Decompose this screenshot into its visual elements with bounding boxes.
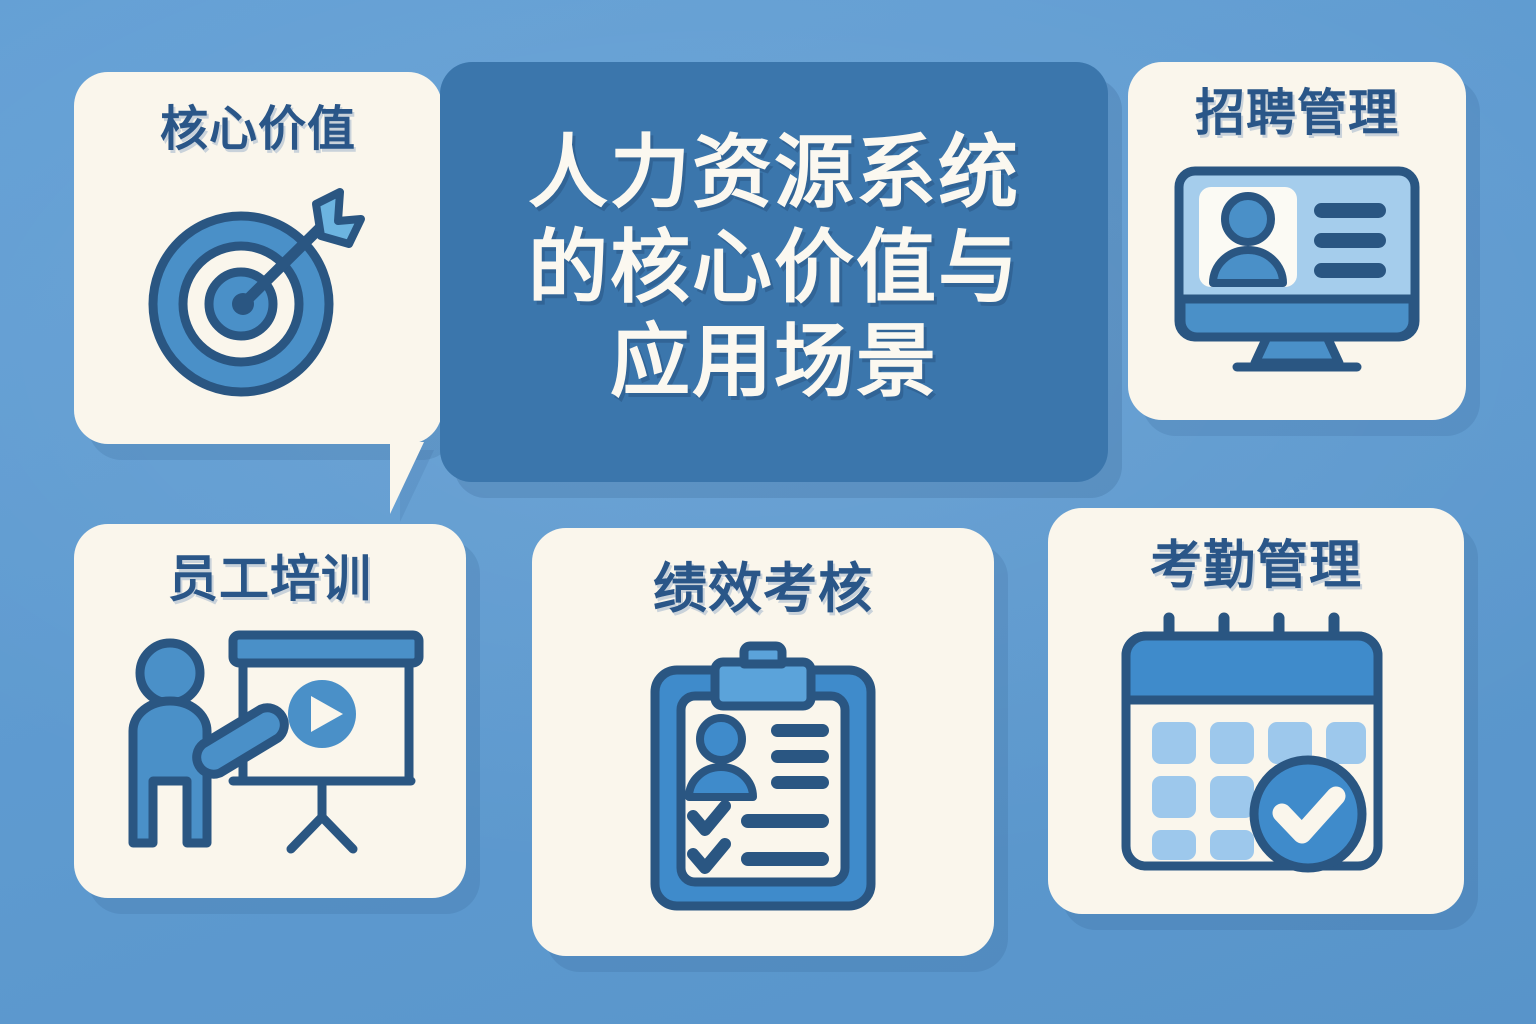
presenter-projector-screen-icon	[115, 621, 425, 863]
icon-wrap-recruitment	[1128, 142, 1466, 400]
card-title-attendance: 考勤管理	[1150, 540, 1362, 592]
icon-wrap-performance	[532, 624, 994, 930]
main-title-line-2: 的核心价值与	[528, 221, 1020, 315]
card-title-core-value: 核心价值	[160, 106, 356, 154]
card-title-recruitment: 招聘管理	[1195, 88, 1399, 138]
main-title-line-1: 人力资源系统	[528, 126, 1020, 220]
infographic-poster: 核心价值 人力资源系统 的核心价值与 应用场景	[0, 0, 1536, 1024]
card-recruitment[interactable]: 招聘管理	[1128, 62, 1466, 420]
card-core-value[interactable]: 核心价值	[74, 72, 442, 444]
icon-wrap-attendance	[1048, 598, 1464, 890]
target-dartboard-icon	[133, 174, 383, 404]
main-title-text: 人力资源系统 的核心价值与 应用场景	[528, 126, 1020, 409]
main-title-banner: 人力资源系统 的核心价值与 应用场景	[440, 62, 1108, 482]
clipboard-checklist-icon	[647, 640, 879, 914]
monitor-profile-card-icon	[1171, 165, 1423, 377]
card-title-performance: 绩效考核	[653, 562, 873, 616]
card-training[interactable]: 员工培训	[74, 524, 466, 898]
card-attendance[interactable]: 考勤管理	[1048, 508, 1464, 914]
main-title-line-3: 应用场景	[528, 315, 1020, 409]
icon-wrap-core-value	[74, 160, 442, 418]
card-title-training: 员工培训	[168, 554, 372, 604]
calendar-check-icon	[1112, 610, 1400, 878]
icon-wrap-training	[74, 608, 466, 876]
card-performance[interactable]: 绩效考核	[532, 528, 994, 956]
speech-bubble-tail	[390, 442, 424, 514]
